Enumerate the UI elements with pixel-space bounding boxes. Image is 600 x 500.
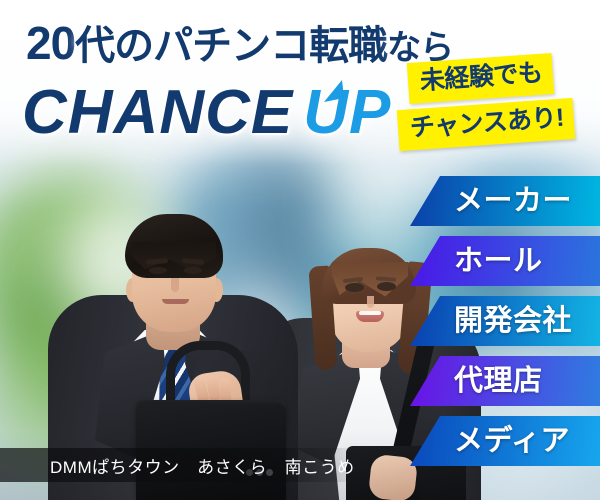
woman-eye-right: [377, 282, 396, 291]
badge-no-experience: 未経験でも チャンスあり!: [398, 58, 594, 154]
logo-up-text: UP: [303, 78, 391, 147]
banner-label: メディア: [454, 427, 570, 456]
banner-label: メーカー: [454, 187, 572, 216]
banner-maker[interactable]: メーカー: [410, 176, 600, 226]
man-mouth: [162, 299, 189, 304]
banner-label: 代理店: [454, 367, 543, 396]
man-nose: [171, 278, 179, 292]
banner-label: ホール: [454, 247, 543, 276]
caption-bar: DMMぱちタウン あさくら 南こうめ: [0, 448, 360, 482]
woman-nose: [367, 296, 374, 308]
banner-ad[interactable]: 20代のパチンコ転職なら CHANCEUP 未経験でも チャンスあり! メーカー…: [0, 0, 600, 500]
man-eye-left: [149, 267, 167, 274]
banner-label: 開発会社: [454, 307, 572, 336]
caption-text: DMMぱちタウン あさくら 南こうめ: [50, 453, 355, 478]
logo-chance-up: CHANCEUP: [22, 76, 422, 150]
headline-middle: 代のパチンコ転職: [75, 24, 387, 68]
banner-developer[interactable]: 開発会社: [410, 296, 600, 346]
badge-line-2: チャンスあり!: [397, 98, 576, 151]
headline: 20代のパチンコ転職なら: [26, 20, 446, 66]
woman-eye-left: [345, 283, 364, 292]
badge-line-1: 未経験でも: [407, 53, 554, 104]
man-eye-right: [184, 267, 202, 274]
woman-teeth: [359, 311, 381, 315]
banner-agency[interactable]: 代理店: [410, 356, 600, 406]
category-banner-list: メーカー ホール 開発会社 代理店 メディア: [410, 176, 600, 476]
logo-chance-text: CHANCE: [22, 78, 293, 147]
banner-hall[interactable]: ホール: [410, 236, 600, 286]
headline-number: 20: [26, 17, 75, 69]
banner-media[interactable]: メディア: [410, 416, 600, 466]
